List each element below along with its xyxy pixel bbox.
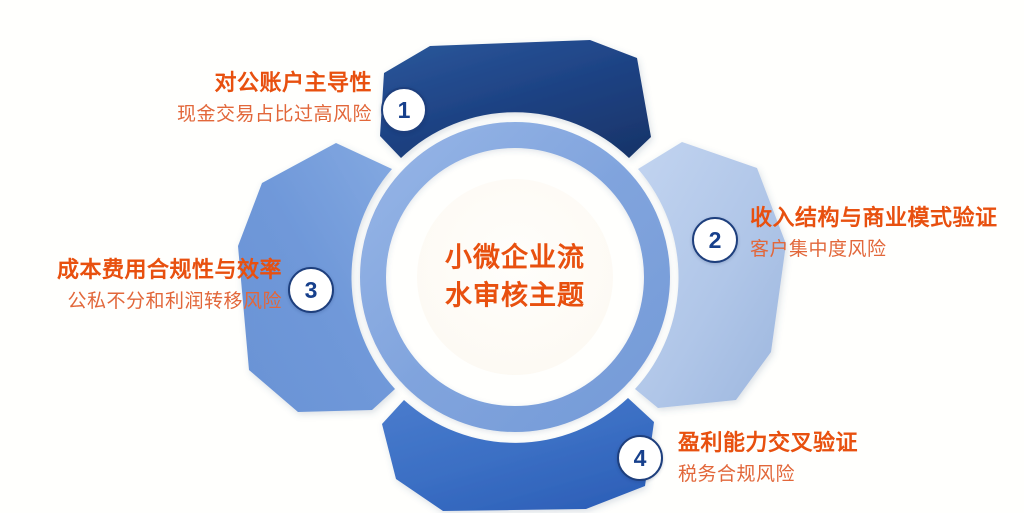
- callout-segment-2[interactable]: 收入结构与商业模式验证 客户集中度风险: [750, 203, 998, 263]
- infographic-canvas: 小微企业流 水审核主题 1 2 3 4 对公账户主导性 现金交易占比过高风险 收…: [0, 0, 1024, 513]
- callout-3-title: 成本费用合规性与效率: [57, 255, 282, 285]
- segment-badge-2[interactable]: 2: [692, 217, 738, 263]
- callout-4-title: 盈利能力交叉验证: [678, 428, 858, 458]
- callout-segment-4[interactable]: 盈利能力交叉验证 税务合规风险: [678, 428, 858, 488]
- callout-2-title: 收入结构与商业模式验证: [750, 203, 998, 233]
- segment-badge-1[interactable]: 1: [381, 87, 427, 133]
- segment-badge-4[interactable]: 4: [617, 435, 663, 481]
- callout-1-subtitle: 现金交易占比过高风险: [177, 101, 372, 129]
- callout-segment-3[interactable]: 成本费用合规性与效率 公私不分和利润转移风险: [57, 255, 282, 315]
- callout-segment-1[interactable]: 对公账户主导性 现金交易占比过高风险: [177, 68, 372, 128]
- center-hub-circle: [417, 179, 613, 375]
- segment-badge-3[interactable]: 3: [288, 267, 334, 313]
- callout-2-subtitle: 客户集中度风险: [750, 236, 998, 264]
- callout-3-subtitle: 公私不分和利润转移风险: [57, 288, 282, 316]
- callout-4-subtitle: 税务合规风险: [678, 461, 858, 489]
- callout-1-title: 对公账户主导性: [177, 68, 372, 98]
